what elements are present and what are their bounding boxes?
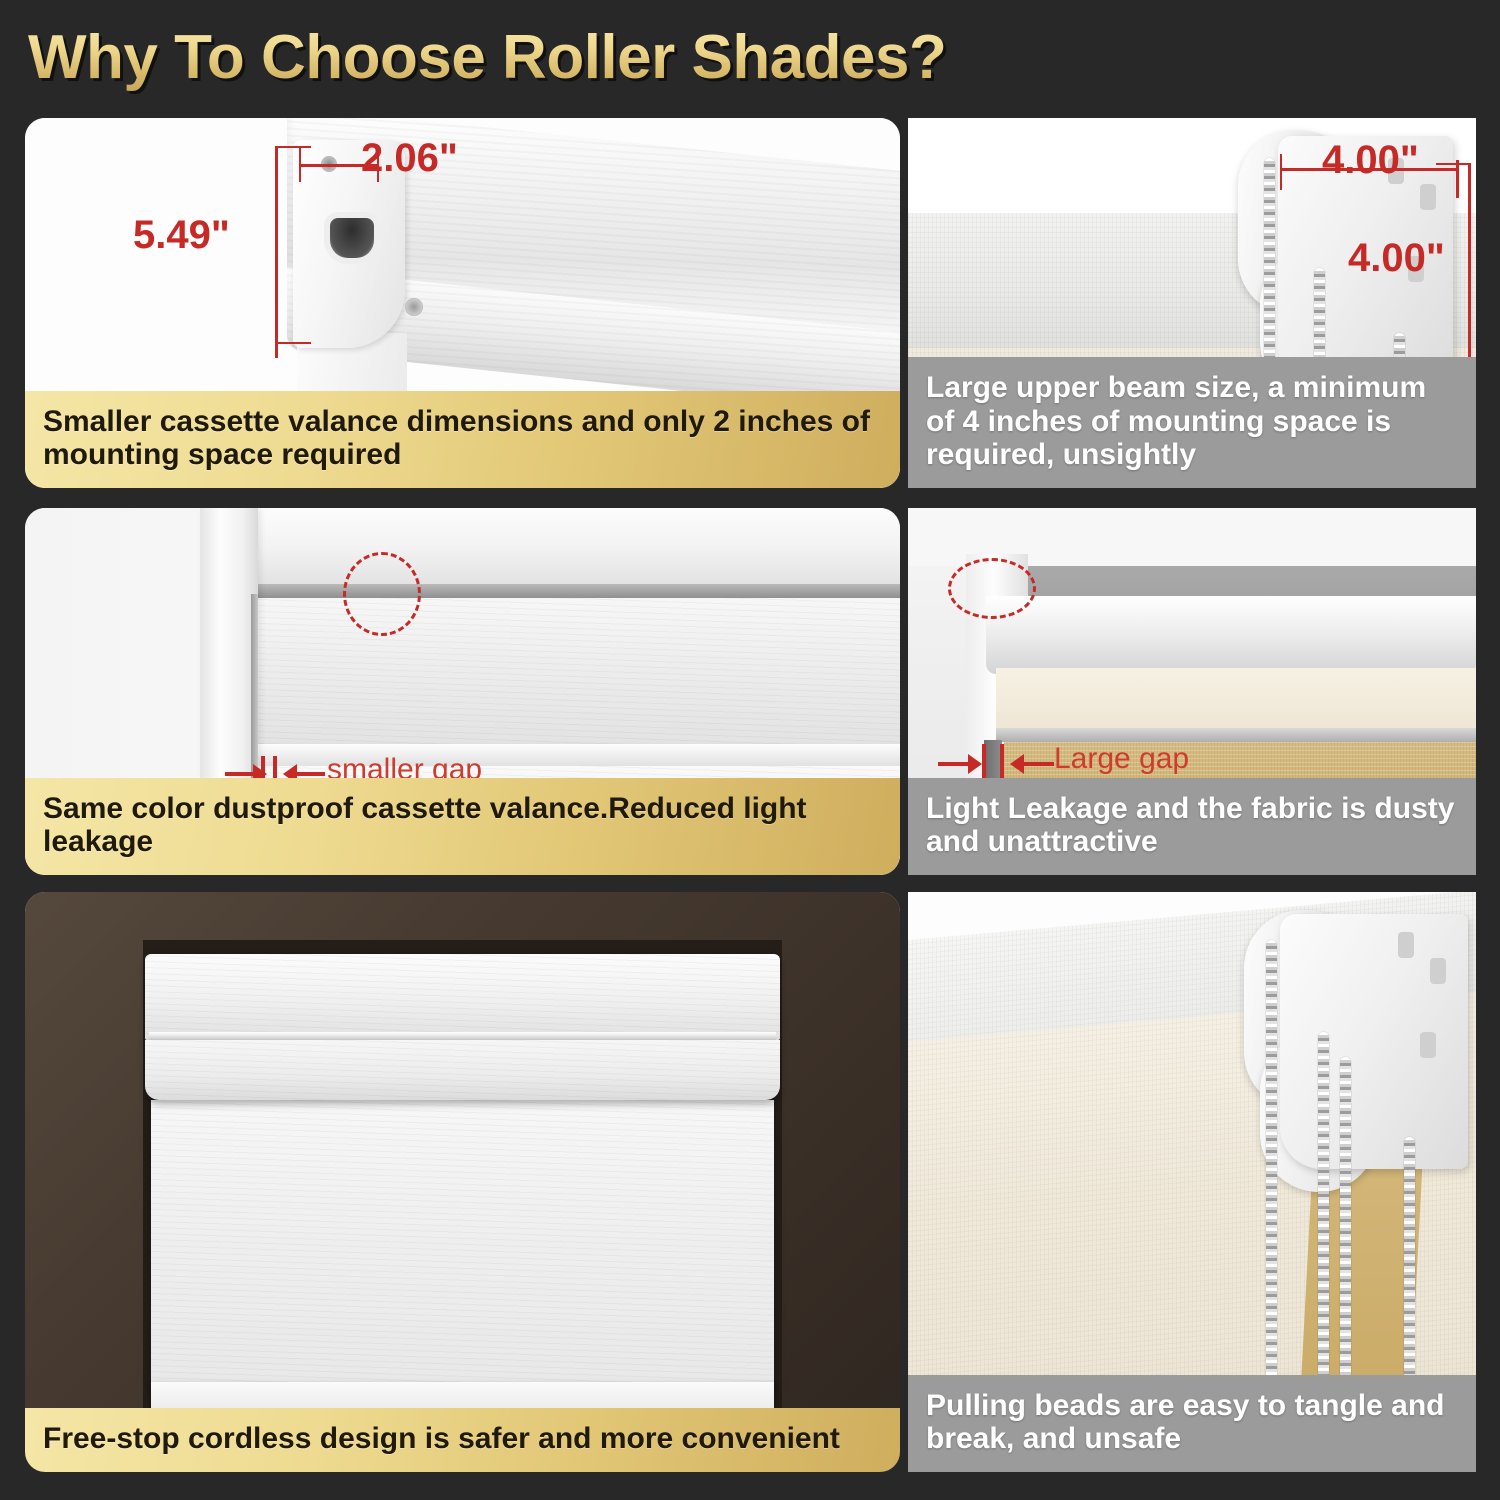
panel-smaller-gap: smaller gap Same color dustproof cassett…: [25, 508, 900, 875]
panel-caption: Large upper beam size, a minimum of 4 in…: [908, 357, 1476, 488]
bead-chain: [1340, 1057, 1351, 1410]
bead-chain: [1404, 1137, 1415, 1410]
highlight-circle: [343, 552, 421, 636]
height-dimension-label: 4.00": [1348, 236, 1445, 281]
panel-large-upper-beam: 4.00" 4.00" Large upper beam size, a min…: [908, 118, 1476, 488]
window-room-photo: [25, 892, 900, 1472]
width-dimension-label: 4.00": [1322, 138, 1419, 183]
panel-caption: Free-stop cordless design is safer and m…: [25, 1408, 900, 1472]
panel-caption: Smaller cassette valance dimensions and …: [25, 391, 900, 488]
width-dimension-label: 2.06": [361, 136, 458, 181]
screw-icon: [405, 298, 423, 316]
panel-pulling-beads: Pulling beads are easy to tangle and bre…: [908, 892, 1476, 1472]
panel-large-gap: Large gap Light Leakage and the fabric i…: [908, 508, 1476, 875]
height-dimension-label: 5.49": [133, 213, 230, 258]
panel-caption: Pulling beads are easy to tangle and bre…: [908, 1375, 1476, 1472]
panel-cordless-design: Free-stop cordless design is safer and m…: [25, 892, 900, 1472]
free-stop-slot-icon: [330, 218, 374, 258]
gap-callout-label: Large gap: [1054, 742, 1189, 776]
page-title: Why To Choose Roller Shades?: [28, 22, 946, 93]
bead-chain: [1318, 1032, 1329, 1410]
panel-smaller-cassette: 2.06" 5.49" Smaller cassette valance dim…: [25, 118, 900, 488]
bead-chain: [1266, 940, 1277, 1410]
highlight-circle: [948, 558, 1036, 619]
panel-caption: Same color dustproof cassette valance.Re…: [25, 778, 900, 875]
panel-caption: Light Leakage and the fabric is dusty an…: [908, 778, 1476, 875]
